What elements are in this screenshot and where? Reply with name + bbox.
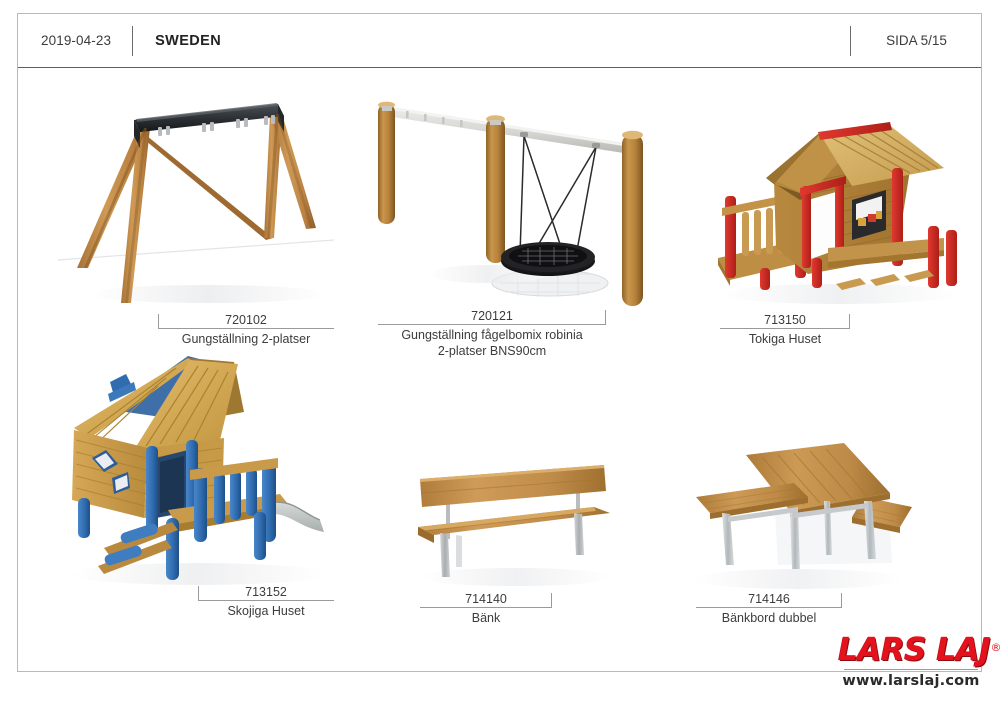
double-picnic-table-illustration bbox=[678, 435, 916, 595]
caption-713150: 713150 Tokiga Huset bbox=[720, 314, 850, 348]
product-name: Bänkbord dubbel bbox=[696, 608, 842, 627]
crooked-playhouse-red-illustration bbox=[700, 108, 968, 310]
logo-brand-label: LARS LAJ bbox=[838, 632, 990, 668]
caption-leader-line: 720121 bbox=[378, 310, 606, 325]
wooden-bench-illustration bbox=[398, 455, 628, 595]
crooked-playhouse-blue-illustration bbox=[48, 352, 344, 592]
header-rule bbox=[18, 67, 981, 68]
product-name: Tokiga Huset bbox=[720, 329, 850, 348]
caption-leader-line: 714146 bbox=[696, 593, 842, 608]
registered-trademark-icon: ® bbox=[991, 631, 1000, 665]
caption-720121: 720121 Gungställning fågelbomix robinia … bbox=[378, 310, 606, 359]
logo-website-url: www.larslaj.com bbox=[838, 670, 984, 689]
product-code: 713150 bbox=[720, 314, 850, 327]
caption-713152: 713152 Skojiga Huset bbox=[198, 586, 334, 620]
header-country-title: SWEDEN bbox=[155, 33, 221, 49]
product-name: Skojiga Huset bbox=[198, 601, 334, 620]
header-date: 2019-04-23 bbox=[41, 33, 111, 48]
logo-brand-text: LARS LAJ® bbox=[838, 633, 990, 667]
caption-leader-line: 720102 bbox=[158, 314, 334, 329]
product-code: 713152 bbox=[198, 586, 334, 599]
page-header: 2019-04-23 SWEDEN SIDA 5/15 bbox=[17, 13, 982, 68]
product-code: 714146 bbox=[696, 593, 842, 606]
robinia-nest-swing-illustration bbox=[368, 84, 648, 310]
product-code: 720121 bbox=[378, 310, 606, 323]
caption-714146: 714146 Bänkbord dubbel bbox=[696, 593, 842, 627]
product-name: Gungställning 2-platser bbox=[158, 329, 334, 348]
product-name: Gungställning fågelbomix robinia 2-plats… bbox=[378, 325, 606, 359]
caption-rule bbox=[696, 607, 842, 608]
caption-leader-line: 713150 bbox=[720, 314, 850, 329]
header-divider bbox=[132, 26, 133, 56]
caption-rule bbox=[198, 600, 334, 601]
caption-rule bbox=[720, 328, 850, 329]
company-logo: LARS LAJ® www.larslaj.com bbox=[838, 633, 984, 689]
swing-frame-2-seat-illustration bbox=[58, 88, 334, 310]
caption-leader-line: 713152 bbox=[198, 586, 334, 601]
caption-720102: 720102 Gungställning 2-platser bbox=[158, 314, 334, 348]
header-page-number: SIDA 5/15 bbox=[851, 33, 982, 48]
product-name: Bänk bbox=[420, 608, 552, 627]
caption-714140: 714140 Bänk bbox=[420, 593, 552, 627]
caption-rule bbox=[378, 324, 606, 325]
product-code: 720102 bbox=[158, 314, 334, 327]
product-code: 714140 bbox=[420, 593, 552, 606]
caption-rule bbox=[158, 328, 334, 329]
caption-rule bbox=[420, 607, 552, 608]
caption-leader-line: 714140 bbox=[420, 593, 552, 608]
